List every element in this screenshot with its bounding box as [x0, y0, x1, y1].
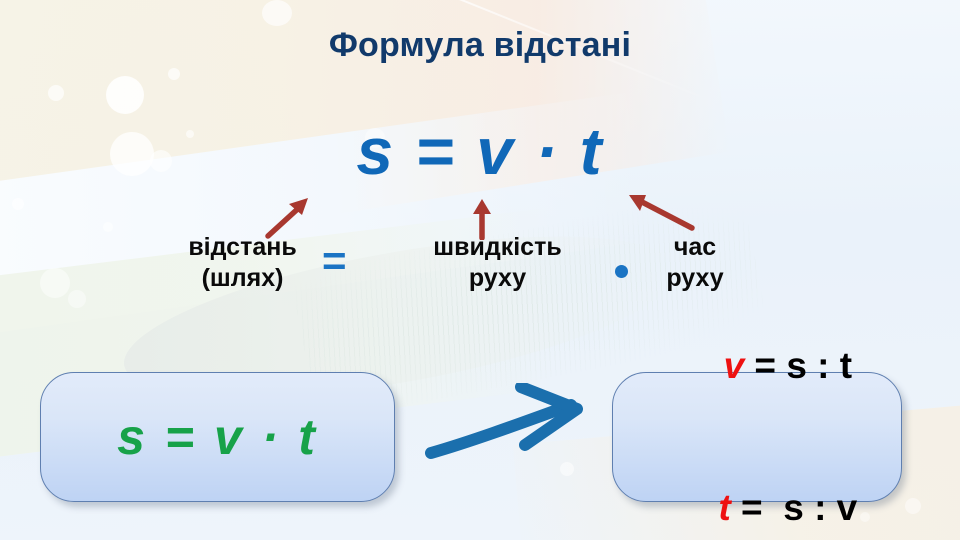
label-distance: відстань (шлях): [150, 232, 335, 293]
box-right-line-2: t = s : v: [657, 437, 858, 540]
background-bubble: [168, 68, 180, 80]
page-title: Формула відстані: [0, 26, 960, 65]
background-bubble: [103, 222, 113, 232]
label-speed-line1: швидкість: [390, 232, 605, 263]
label-speed-line2: руху: [390, 263, 605, 294]
arrow-up-left-icon: [620, 190, 698, 232]
formula-box-right[interactable]: v = s : t t = s : v: [612, 372, 902, 502]
box-right-line-1: v = s : t: [662, 295, 852, 437]
slide-canvas: Формула відстані s = v · t відстань (шля…: [0, 0, 960, 540]
curved-right-arrow-icon: [425, 383, 597, 463]
box-left-formula: s = v · t: [117, 408, 318, 466]
background-bubble: [560, 462, 574, 476]
box-right-rest-1: = s : t: [744, 345, 852, 386]
background-bubble: [48, 85, 64, 101]
label-speed: швидкість руху: [390, 232, 605, 293]
label-time-line1: час: [630, 232, 760, 263]
box-right-rest-2: = s : v: [731, 487, 857, 528]
equals-sign-operator: =: [322, 240, 347, 282]
multiply-dot-operator: [615, 265, 628, 278]
background-bubble: [905, 498, 921, 514]
label-time: час руху: [630, 232, 760, 293]
box-right-var-2: t: [718, 487, 730, 528]
box-right-var-1: v: [724, 345, 745, 386]
background-bubble: [262, 0, 292, 26]
background-bubble: [12, 198, 24, 210]
background-bubble: [860, 512, 870, 522]
main-formula: s = v · t: [0, 113, 960, 189]
label-distance-line1: відстань: [150, 232, 335, 263]
formula-box-left[interactable]: s = v · t: [40, 372, 395, 502]
label-time-line2: руху: [630, 263, 760, 294]
label-distance-line2: (шлях): [150, 263, 335, 294]
background-bubble: [106, 76, 144, 114]
